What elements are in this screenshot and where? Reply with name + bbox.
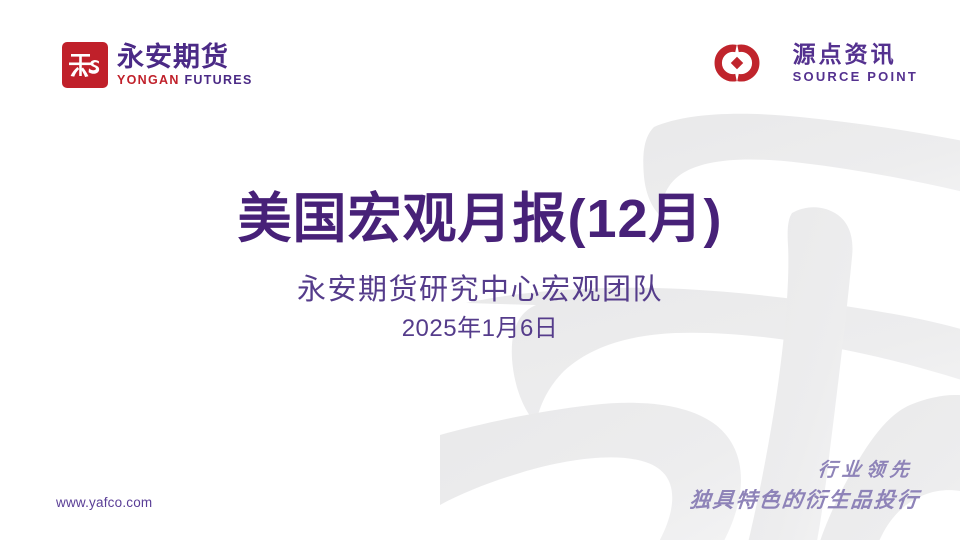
company-tagline: 行业领先 独具特色的衍生品投行 [690, 455, 920, 514]
yongan-chinese-name: 永安期货 [117, 44, 253, 71]
title-block: 美国宏观月报(12月) 永安期货研究中心宏观团队 2025年1月6日 [0, 188, 960, 344]
page-title: 美国宏观月报(12月) [0, 188, 960, 250]
yongan-futures-logo: 永安期货 YONGAN FUTURES [62, 42, 253, 88]
tagline-line-1: 行业领先 [689, 455, 916, 482]
source-point-wordmark: 源点资讯 SOURCE POINT [793, 43, 918, 83]
yongan-seal-mark [62, 42, 108, 88]
yongan-english-word-1: YONGAN [117, 73, 180, 87]
page-subtitle: 永安期货研究中心宏观团队 [0, 272, 960, 308]
page-date: 2025年1月6日 [0, 314, 960, 344]
yongan-english-word-2: FUTURES [184, 73, 252, 87]
yongan-wordmark: 永安期货 YONGAN FUTURES [117, 44, 253, 87]
tagline-line-2: 独具特色的衍生品投行 [688, 484, 921, 514]
source-point-infinity-mark [691, 40, 783, 86]
title-slide: 永安期货 YONGAN FUTURES 源点资讯 [0, 0, 960, 540]
website-link[interactable]: www.yafco.com [56, 495, 152, 510]
source-point-chinese-name: 源点资讯 [793, 43, 918, 66]
yongan-english-name: YONGAN FUTURES [117, 74, 253, 87]
source-point-english-name: SOURCE POINT [793, 70, 918, 83]
source-point-logo: 源点资讯 SOURCE POINT [691, 40, 918, 86]
